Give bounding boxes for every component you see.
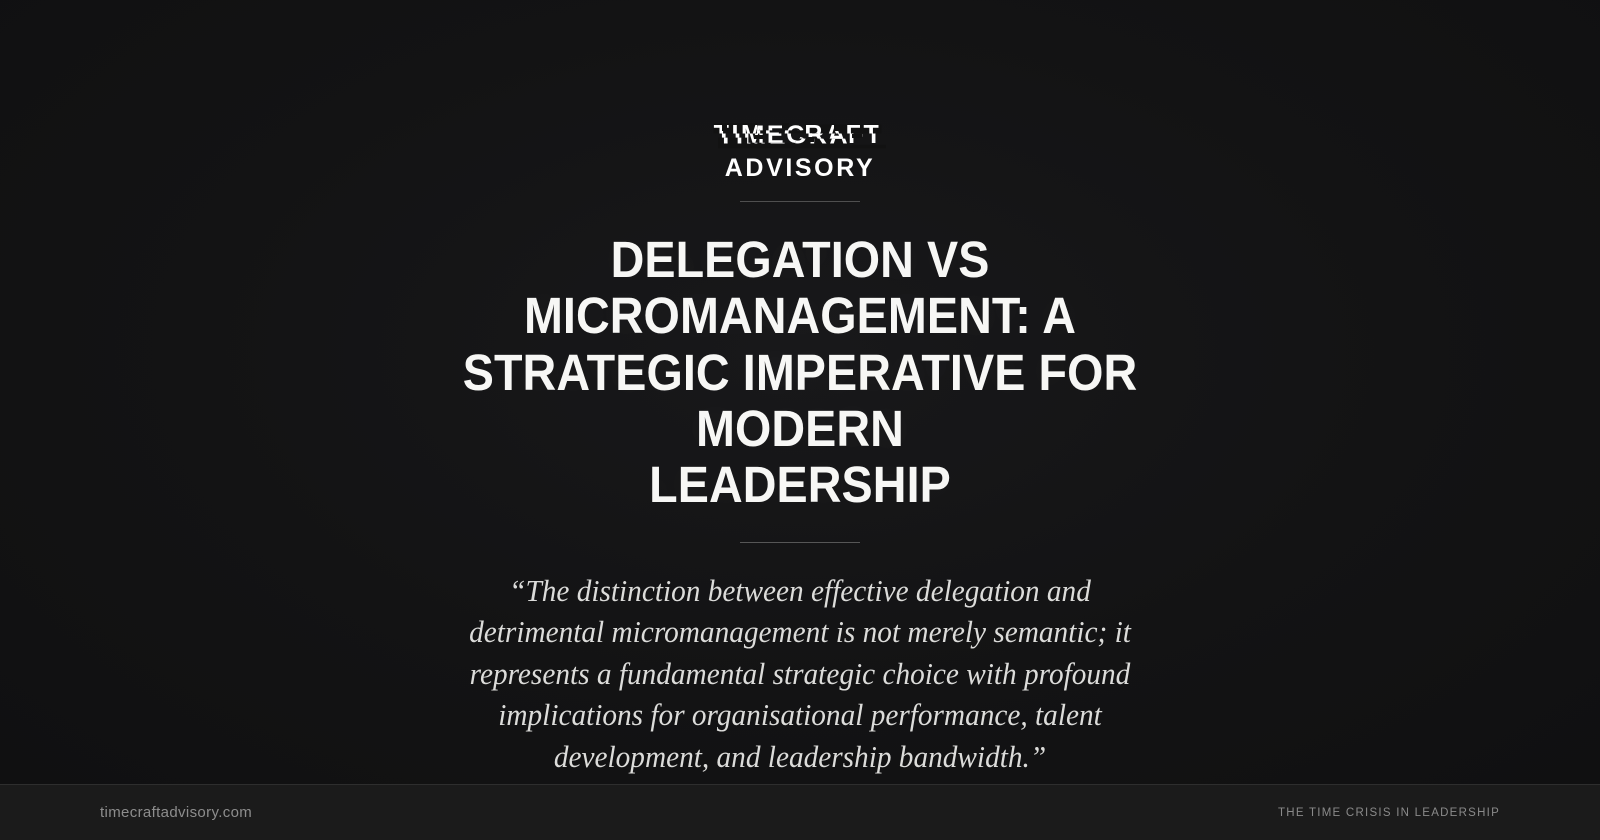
slide-title: DELEGATION VS MICROMANAGEMENT: A STRATEG… [388,232,1212,514]
brand-logo-primary: TIMECRAFT [716,122,884,148]
slide-content: TIMECRAFT ADVISORY DELEGATION VS MICROMA… [0,0,1600,784]
quote-line: “The distinction between effective deleg… [509,573,1091,608]
slide-pull-quote: “The distinction between effective deleg… [460,570,1140,778]
brand-logo: TIMECRAFT ADVISORY [716,122,884,181]
presentation-slide: TIMECRAFT ADVISORY DELEGATION VS MICROMA… [0,0,1600,840]
brand-logo-glitch-text: TIMECRAFT [716,122,884,148]
footer-website-url[interactable]: timecraftadvisory.com [100,804,252,821]
title-line: LEADERSHIP [649,456,951,513]
divider-below-title [740,542,860,543]
title-line: STRATEGIC IMPERATIVE FOR MODERN [463,344,1138,457]
brand-logo-secondary: ADVISORY [725,155,875,181]
quote-line: detrimental micromanagement is not merel… [469,614,1131,649]
quote-line: development, and leadership bandwidth.” [554,739,1046,774]
quote-line: represents a fundamental strategic choic… [470,656,1131,691]
footer-section-label: THE TIME CRISIS IN LEADERSHIP [1278,807,1500,819]
divider-above-title [740,201,860,202]
quote-line: implications for organisational performa… [498,697,1102,732]
slide-footer: timecraftadvisory.com THE TIME CRISIS IN… [0,784,1600,840]
title-line: DELEGATION VS MICROMANAGEMENT: A [524,231,1076,344]
